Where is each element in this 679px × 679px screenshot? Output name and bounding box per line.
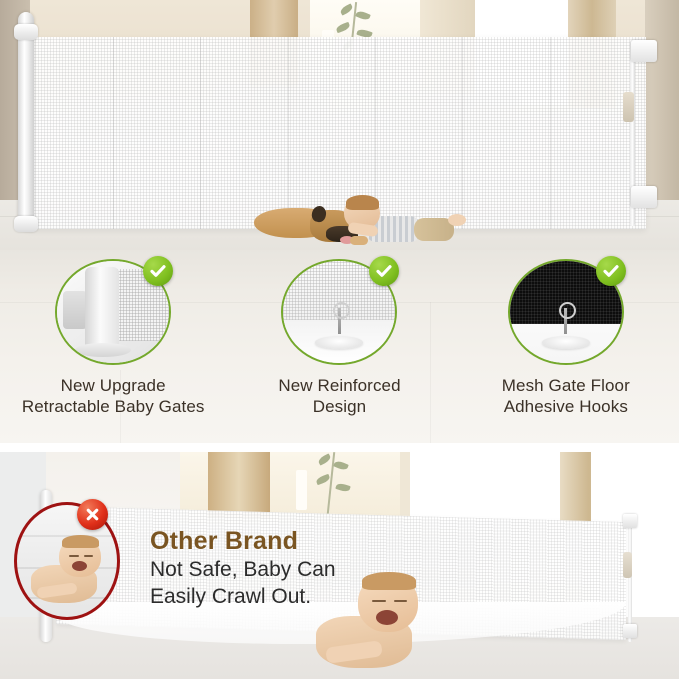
wall-bracket-bottom [623, 624, 637, 638]
hero-image [0, 0, 679, 250]
hook-base-disc [315, 336, 363, 349]
wall-bracket-top [623, 514, 637, 528]
gate-seam [550, 37, 551, 229]
feature-thumb-wrap [55, 259, 171, 365]
gate-latch [623, 552, 632, 578]
post-base [75, 343, 131, 357]
feature-label: Mesh Gate Floor Adhesive Hooks [502, 375, 630, 417]
hook-ring [559, 302, 576, 319]
other-brand-title: Other Brand [150, 527, 450, 555]
features-section: New Upgrade Retractable Baby Gates [0, 250, 679, 443]
gate-rail-right [628, 514, 632, 642]
feature-item-new-upgrade-retractable-baby-gates: New Upgrade Retractable Baby Gates [0, 250, 226, 443]
wall-bracket-bottom [631, 186, 657, 208]
other-brand-sub-line1: Not Safe, Baby Can [150, 557, 450, 582]
wall-bracket-top [631, 40, 657, 62]
check-icon [596, 256, 626, 286]
hook-base-disc [542, 336, 590, 349]
cross-icon [77, 499, 108, 530]
check-icon [143, 256, 173, 286]
feature-row: New Upgrade Retractable Baby Gates [0, 250, 679, 443]
candle [296, 470, 307, 510]
baby-hair [62, 535, 99, 548]
post-column [85, 267, 119, 355]
gate-post-cap-top [14, 24, 38, 40]
feature-item-mesh-gate-floor-adhesive-hooks: Mesh Gate Floor Adhesive Hooks [453, 250, 679, 443]
window-right [410, 452, 560, 520]
other-brand-sub-line2: Easily Crawl Out. [150, 584, 450, 609]
baby-eye [84, 555, 93, 557]
feature-item-new-reinforced-design: New Reinforced Design [226, 250, 452, 443]
curtain-left [208, 452, 270, 518]
feature-thumb-wrap [281, 259, 397, 365]
section-divider [0, 443, 679, 452]
feature-label-line1: New Upgrade [22, 375, 205, 396]
feature-label-line1: New Reinforced [278, 375, 400, 396]
feature-label-line2: Adhesive Hooks [502, 396, 630, 417]
gate-post [18, 12, 34, 230]
feature-label-line2: Design [278, 396, 400, 417]
baby [336, 196, 464, 246]
gate-post-cap-bottom [14, 216, 38, 232]
feature-thumb-wrap [508, 259, 624, 365]
feature-label-line2: Retractable Baby Gates [22, 396, 205, 417]
baby-foot [448, 214, 466, 226]
baby-mouth [72, 561, 87, 571]
post-tab [63, 291, 87, 329]
baby-hair [346, 195, 379, 210]
baby-mouth [376, 610, 398, 625]
feature-label-line1: Mesh Gate Floor [502, 375, 630, 396]
comparison-text: Other Brand Not Safe, Baby Can Easily Cr… [150, 527, 450, 609]
feature-label: New Reinforced Design [278, 375, 400, 417]
product-infographic: New Upgrade Retractable Baby Gates [0, 0, 679, 679]
feature-label: New Upgrade Retractable Baby Gates [22, 375, 205, 417]
gate-latch [623, 92, 634, 122]
baby-eye [69, 555, 79, 557]
gate-seam [200, 37, 201, 229]
crying-baby-inset [31, 535, 113, 605]
hook-ring [333, 302, 350, 319]
gate-seam [113, 37, 114, 229]
